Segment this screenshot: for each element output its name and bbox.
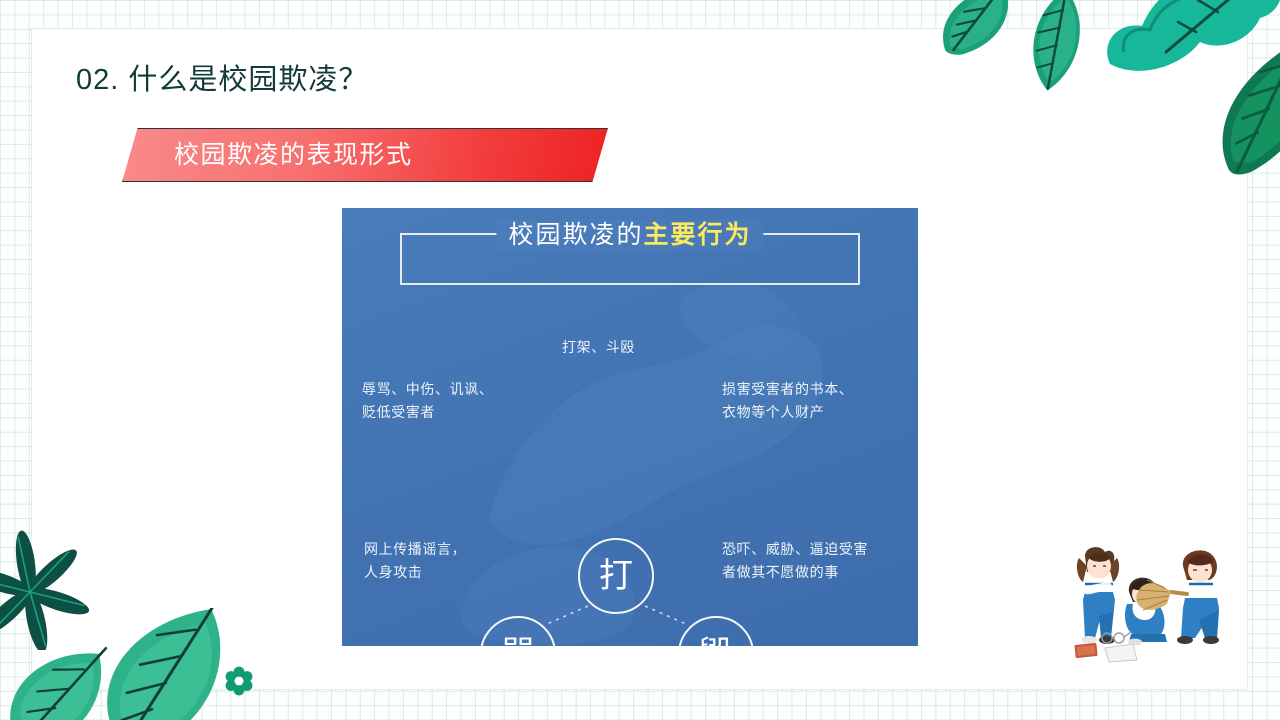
- node-circle-ma: 骂: [480, 616, 556, 646]
- section-banner-label: 校园欺凌的表现形式: [174, 128, 413, 182]
- bullying-behaviors-panel: 校园欺凌的主要行为 打架、斗殴 辱骂、中伤、讥讽、 贬低受害者 损害受害者的书本…: [342, 208, 918, 646]
- label-bottom-right: 恐吓、威胁、逼迫受害 者做其不愿做的事: [722, 538, 868, 584]
- label-left: 辱骂、中伤、讥讽、 贬低受害者: [362, 378, 493, 424]
- students-bullying-illustration: [1055, 538, 1255, 673]
- slide-canvas: 02. 什么是校园欺凌？ 校园欺凌的表现形式 校园欺凌的主: [0, 0, 1280, 720]
- panel-heading: 校园欺凌的主要行为: [400, 233, 860, 285]
- page-title: 02. 什么是校园欺凌？: [76, 56, 368, 98]
- label-right: 损害受害者的书本、 衣物等个人财产: [722, 378, 853, 424]
- panel-heading-highlight: 主要行为: [644, 221, 752, 249]
- node-circle-da: 打: [578, 538, 654, 614]
- label-bottom-left: 网上传播谣言， 人身攻击: [364, 538, 466, 584]
- section-banner: 校园欺凌的表现形式: [122, 128, 608, 182]
- label-top: 打架、斗殴: [562, 336, 635, 359]
- panel-heading-text: 校园欺凌的主要行为: [496, 220, 763, 250]
- student-standing: [1077, 547, 1119, 644]
- panel-heading-plain: 校园欺凌的: [508, 221, 643, 249]
- node-circle-hui: 毁: [678, 616, 754, 646]
